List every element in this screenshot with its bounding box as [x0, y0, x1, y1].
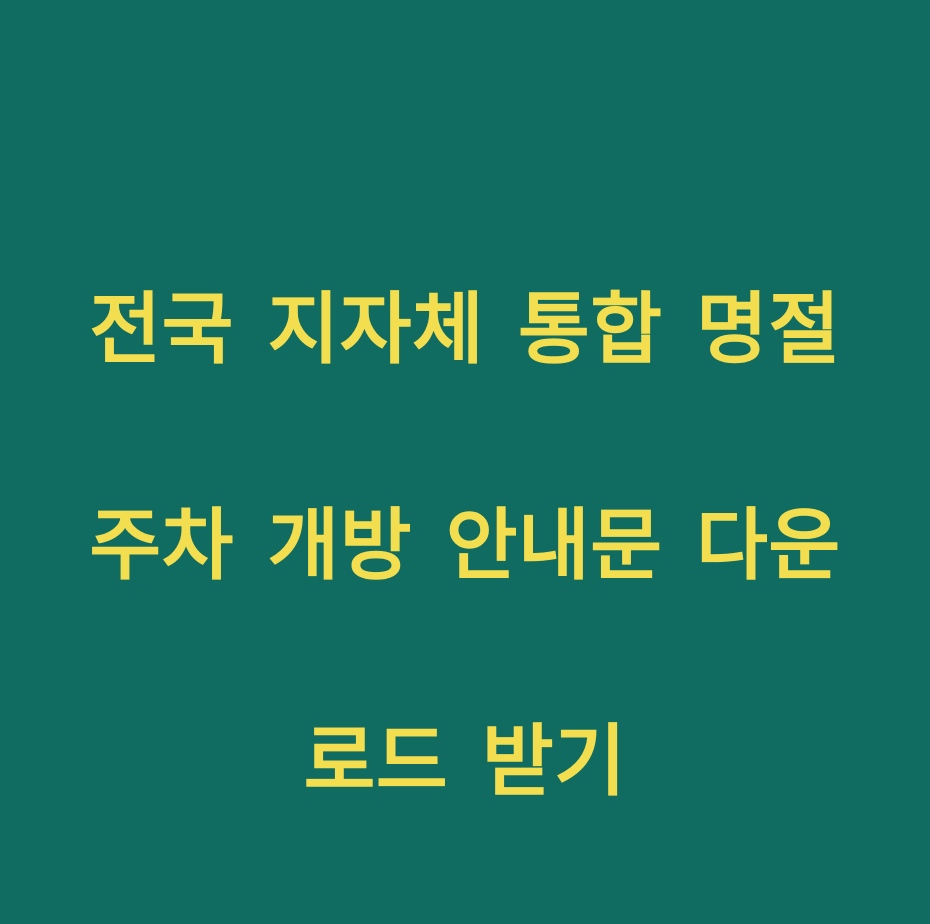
headline-line-1: 전국 지자체 통합 명절 — [0, 276, 930, 384]
headline-line-2: 주차 개방 안내문 다운 — [0, 492, 930, 600]
banner-canvas: 전국 지자체 통합 명절 주차 개방 안내문 다운 로드 받기 — [0, 0, 930, 620]
headline-text-block: 전국 지자체 통합 명절 주차 개방 안내문 다운 로드 받기 — [0, 168, 930, 924]
headline-line-3: 로드 받기 — [0, 708, 930, 816]
